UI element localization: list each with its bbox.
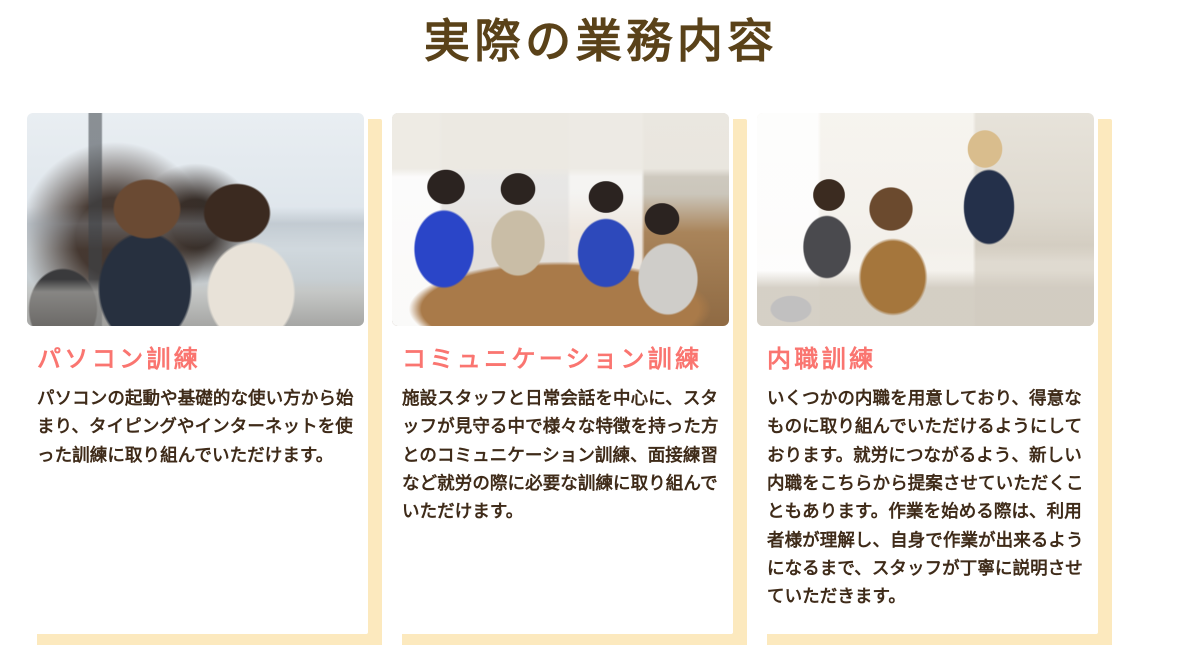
piecework-training-body: いくつかの内職を用意しており、得意なものに取り組んでいただけるようにしております… bbox=[767, 384, 1084, 611]
training-card-communication: コミュニケーション訓練 施設スタッフと日常会話を中心に、スタッフが見守る中で様々… bbox=[388, 105, 733, 634]
section-title: 実際の業務内容 bbox=[0, 0, 1202, 92]
training-content-page: { "section": { "title": "実際の業務内容", "titl… bbox=[0, 0, 1202, 645]
communication-training-body: 施設スタッフと日常会話を中心に、スタッフが見守る中で様々な特徴を持った方とのコミ… bbox=[402, 384, 719, 526]
piecework-training-photo bbox=[757, 113, 1094, 326]
piecework-training-heading: 内職訓練 bbox=[767, 345, 1098, 375]
training-cards-row: パソコン訓練 パソコンの起動や基礎的な使い方から始まり、タイピングやインターネッ… bbox=[0, 105, 1202, 634]
training-card-pc: パソコン訓練 パソコンの起動や基礎的な使い方から始まり、タイピングやインターネッ… bbox=[23, 105, 368, 634]
pc-training-photo bbox=[27, 113, 364, 326]
communication-training-photo bbox=[392, 113, 729, 326]
pc-training-heading: パソコン訓練 bbox=[37, 345, 368, 375]
training-card-piecework: 内職訓練 いくつかの内職を用意しており、得意なものに取り組んでいただけるようにし… bbox=[753, 105, 1098, 634]
pc-training-body: パソコンの起動や基礎的な使い方から始まり、タイピングやインターネットを使った訓練… bbox=[37, 384, 354, 469]
communication-training-heading: コミュニケーション訓練 bbox=[402, 345, 733, 375]
